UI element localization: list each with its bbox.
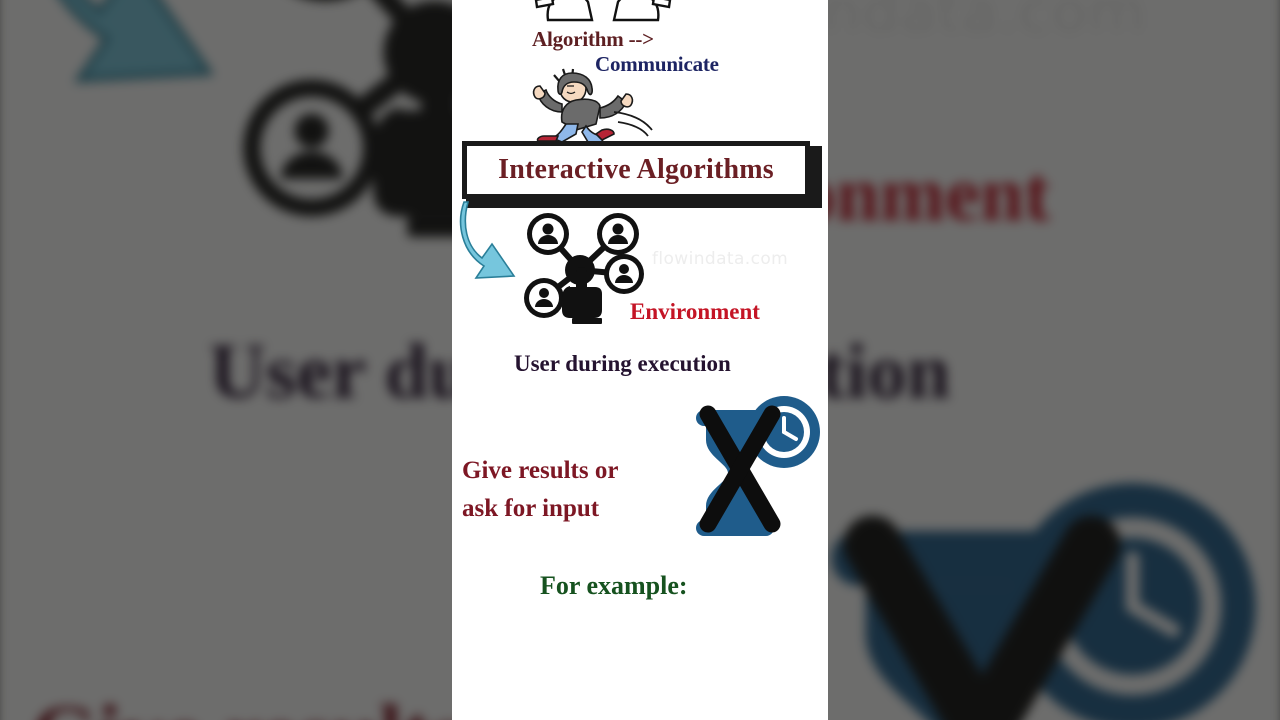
- two-hands-icon: [530, 0, 730, 24]
- give-results-text: Give results or ask for input: [462, 452, 618, 528]
- running-person-icon: [514, 52, 674, 142]
- video-player-stage: Algorithm --> Communicate: [0, 0, 1280, 720]
- watermark: flowindata.com: [652, 249, 788, 269]
- cyan-curved-arrow-icon: [458, 200, 520, 282]
- video-slide: Algorithm --> Communicate: [452, 0, 828, 720]
- poster: Algorithm --> Communicate: [452, 0, 828, 720]
- algorithm-text: Algorithm -->: [532, 27, 654, 52]
- title-box: Interactive Algorithms: [462, 141, 810, 199]
- people-network-click-icon: [520, 212, 646, 328]
- give-results-line2: ask for input: [462, 490, 618, 528]
- user-during-execution-label: User during execution: [514, 351, 731, 377]
- for-example-label: For example:: [540, 571, 688, 601]
- environment-label: Environment: [630, 299, 760, 325]
- page-title: Interactive Algorithms: [498, 154, 774, 186]
- hourglass-clock-crossed-icon: [684, 392, 820, 542]
- give-results-line1: Give results or: [462, 457, 618, 484]
